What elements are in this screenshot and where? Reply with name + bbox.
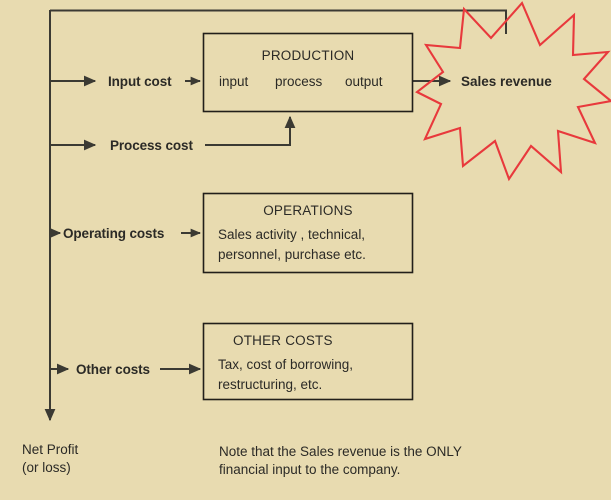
note-line2: financial input to the company. xyxy=(219,461,400,479)
flow-label-input-cost: Input cost xyxy=(108,73,172,91)
net-profit-label-line1: Net Profit xyxy=(22,441,78,459)
sales-revenue-return-loop xyxy=(50,11,507,35)
box-title-production: PRODUCTION xyxy=(203,47,413,65)
production-word-input: input xyxy=(219,73,248,91)
box-title-operations: OPERATIONS xyxy=(203,202,413,220)
box-title-other-costs: OTHER COSTS xyxy=(233,332,333,350)
box-body-operations-line1: Sales activity , technical, xyxy=(218,226,365,244)
flow-label-operating-costs: Operating costs xyxy=(63,225,164,243)
box-body-other-costs-line2: restructuring, etc. xyxy=(218,376,322,394)
production-word-output: output xyxy=(345,73,383,91)
starburst-label-sales-revenue: Sales revenue xyxy=(461,73,552,91)
net-profit-label-line2: (or loss) xyxy=(22,459,71,477)
note-line1: Note that the Sales revenue is the ONLY xyxy=(219,443,462,461)
flow-label-other-costs: Other costs xyxy=(76,361,150,379)
production-word-process: process xyxy=(275,73,322,91)
box-body-operations-line2: personnel, purchase etc. xyxy=(218,246,366,264)
starburst-icon xyxy=(417,3,611,179)
box-body-other-costs-line1: Tax, cost of borrowing, xyxy=(218,356,353,374)
flow-label-process-cost: Process cost xyxy=(110,137,193,155)
diagram-canvas: Input cost Process cost Operating costs … xyxy=(0,0,611,500)
